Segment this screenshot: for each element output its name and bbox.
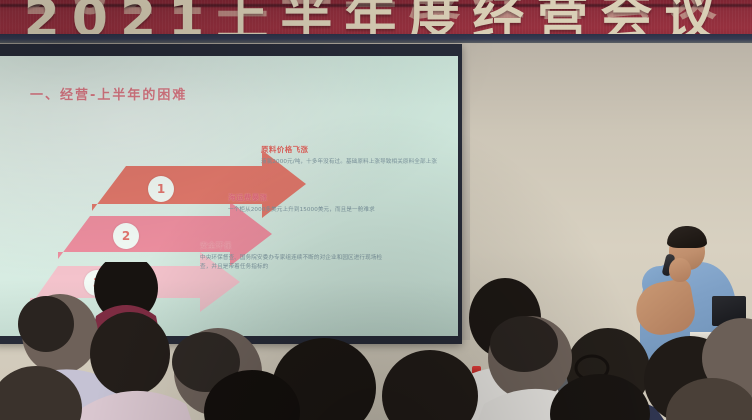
slide-item-2-heading: 海运费暴涨: [228, 192, 414, 203]
slide-item-1-heading: 原料价格飞涨: [261, 144, 447, 155]
attendee-hair: [18, 296, 74, 352]
attendee-head: [382, 350, 478, 420]
attendee-hair: [490, 316, 558, 372]
slide-item-2-body: 一个柜从2000多美元上升到15000美元，而且是一舱难求: [228, 206, 414, 216]
attendee-head: [90, 312, 170, 396]
arrow-badge-1: 1: [148, 176, 174, 202]
banner-lower-edge: [0, 34, 752, 43]
arrow-badge-2: 2: [113, 223, 139, 249]
slide-item-1-body: 液氯2000元/吨，十多年没有过。基础原料上涨导致相关原料全部上涨: [261, 158, 447, 168]
slide-item-2: 海运费暴涨 一个柜从2000多美元上升到15000美元，而且是一舱难求: [228, 192, 414, 215]
meeting-photo-scene: 2021上半年度经营会议 2021上半年度经营会议 一、经营-上半年的困难 1 …: [0, 0, 752, 420]
slide-item-3-heading: 安全环保: [200, 240, 386, 251]
audience-group: [0, 262, 752, 420]
slide-item-1: 原料价格飞涨 液氯2000元/吨，十多年没有过。基础原料上涨导致相关原料全部上涨: [261, 144, 447, 167]
